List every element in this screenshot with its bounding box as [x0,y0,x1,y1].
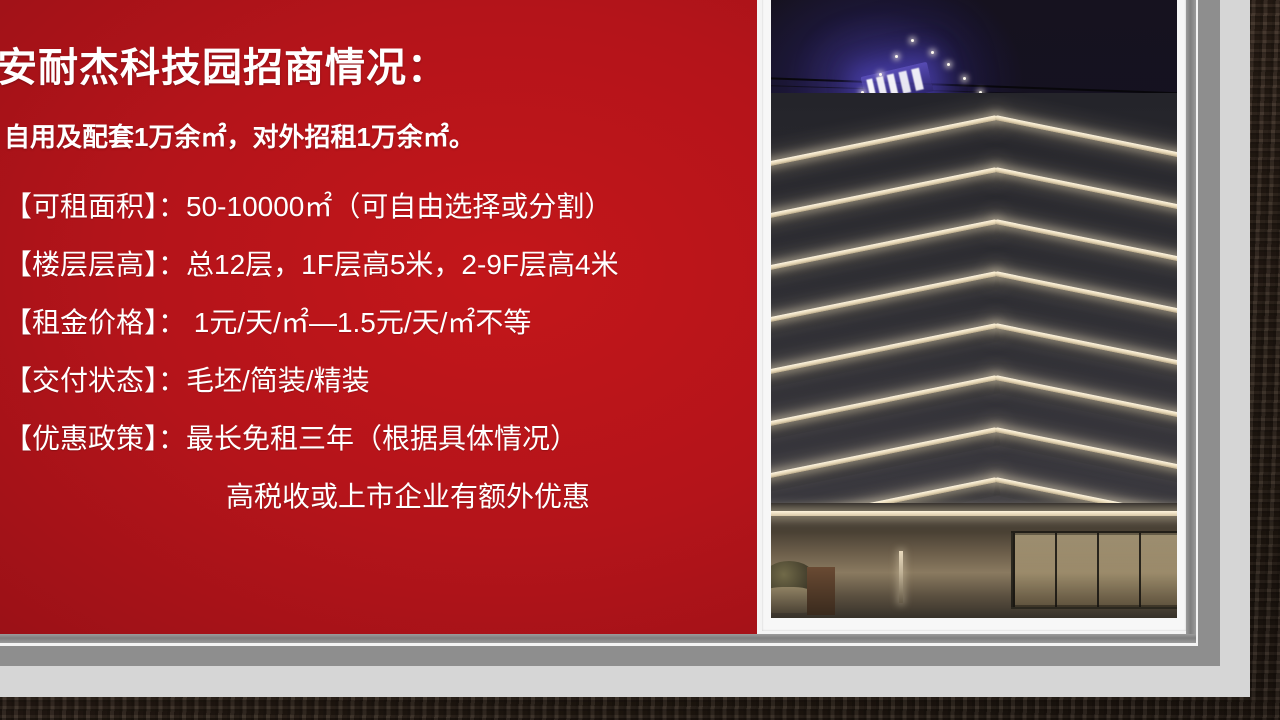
list-item: 【租金价格】： 1元/天/㎡—1.5元/天/㎡不等 [4,294,744,352]
slide-bevel-border: 安耐杰科技园招商情况： 自用及配套1万余㎡，对外招租1万余㎡。 【可租面积】：5… [0,0,1220,666]
bullet-separator: ： [158,423,186,454]
slide-frame: 安耐杰科技园招商情况： 自用及配套1万余㎡，对外招租1万余㎡。 【可租面积】：5… [0,0,1198,646]
list-item: 高税收或上市企业有额外优惠 [4,468,744,526]
building-podium [771,503,1177,618]
canopy-led-strip [771,511,1177,516]
bullet-label: 【楼层层高】 [4,249,158,280]
bullet-separator: ： [158,365,186,396]
building-night-photo [771,0,1177,618]
bullet-list: 【可租面积】：50-10000㎡（可自由选择或分割） 【楼层层高】：总12层，1… [4,178,744,526]
slide-right-bevel [1186,0,1196,642]
bullet-value: 毛坯/简装/精装 [186,365,370,396]
page-title: 安耐杰科技园招商情况： [0,48,448,88]
slide-bottom-bevel [0,634,1196,643]
list-item: 【楼层层高】：总12层，1F层高5米，2-9F层高4米 [4,236,744,294]
bullet-label: 【租金价格】 [4,307,158,338]
bullet-label: 【优惠政策】 [4,423,158,454]
bullet-value: 50-10000㎡（可自由选择或分割） [186,191,612,222]
list-item: 【交付状态】：毛坯/简装/精装 [4,352,744,410]
bullet-separator: ： [158,191,186,222]
bullet-value: 总12层，1F层高5米，2-9F层高4米 [186,249,619,280]
bullet-value: 高税收或上市企业有额外优惠 [226,481,590,512]
slide-subtitle: 自用及配套1万余㎡，对外招租1万余㎡。 [4,124,475,150]
bullet-label: 【交付状态】 [4,365,158,396]
slide-outer-border: 安耐杰科技园招商情况： 自用及配套1万余㎡，对外招租1万余㎡。 【可租面积】：5… [0,0,1250,697]
bullet-separator: ： [158,249,186,280]
bullet-label: 【可租面积】 [4,191,158,222]
slide-stage: 安耐杰科技园招商情况： 自用及配套1万余㎡，对外招租1万余㎡。 【可租面积】：5… [0,0,1280,720]
building-facade [771,93,1177,618]
slide-text-block: 安耐杰科技园招商情况： 自用及配套1万余㎡，对外招租1万余㎡。 【可租面积】：5… [0,0,757,634]
lamp-post [899,551,903,603]
list-item: 【优惠政策】：最长免租三年（根据具体情况） [4,410,744,468]
list-item: 【可租面积】：50-10000㎡（可自由选择或分割） [4,178,744,236]
bullet-separator: ： [158,307,186,338]
bullet-value: 最长免租三年（根据具体情况） [186,423,578,454]
bullet-value: 1元/天/㎡—1.5元/天/㎡不等 [186,307,531,338]
kiosk [807,567,835,615]
glass-entrance-door [1011,531,1177,609]
